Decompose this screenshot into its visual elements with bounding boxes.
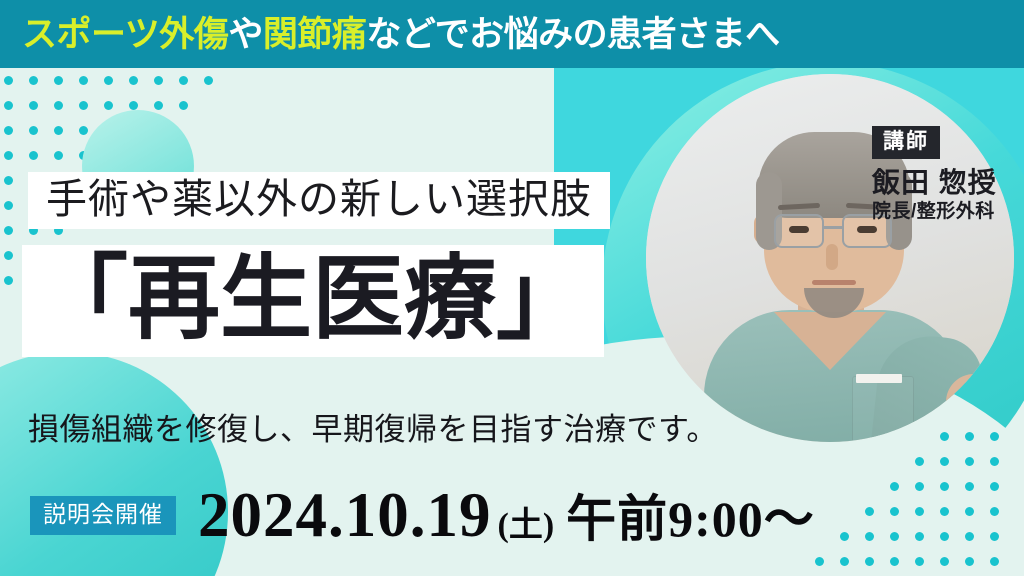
decor-dot	[4, 126, 13, 135]
decor-dot	[29, 126, 38, 135]
decor-dot	[4, 276, 13, 285]
decor-dot	[4, 201, 13, 210]
decor-dot	[915, 507, 924, 516]
instructor-badge: 講師	[872, 126, 940, 159]
subheadline-text: 手術や薬以外の新しい選択肢	[46, 176, 592, 222]
decor-dot	[815, 557, 824, 566]
decor-dot	[4, 101, 13, 110]
decor-dot	[29, 151, 38, 160]
event-date-number: 2024.10.19	[198, 484, 492, 547]
decor-dot	[104, 76, 113, 85]
decor-dot	[915, 482, 924, 491]
decor-dot	[990, 507, 999, 516]
decor-dot	[890, 532, 899, 541]
decor-dot	[104, 101, 113, 110]
decor-dot	[940, 457, 949, 466]
ribbon-segment: などでお悩みの患者さまへ	[366, 15, 779, 54]
headline-box: 「再生医療」	[22, 245, 604, 357]
instructor-name: 飯田 惣授	[872, 168, 997, 199]
ribbon-segment: 関節痛	[263, 15, 367, 54]
decor-dot	[29, 76, 38, 85]
instructor-block: 講師 飯田 惣授 院長/整形外科	[872, 126, 997, 224]
decor-dot	[965, 507, 974, 516]
decor-dot	[840, 557, 849, 566]
header-ribbon: スポーツ外傷や関節痛などでお悩みの患者さまへ	[0, 0, 1024, 68]
decor-dot	[79, 101, 88, 110]
decor-dot	[4, 151, 13, 160]
decor-dot	[179, 101, 188, 110]
decor-dot	[79, 76, 88, 85]
decor-dot	[940, 532, 949, 541]
decor-dot	[990, 532, 999, 541]
decor-dot	[865, 557, 874, 566]
event-date-main: 2024.10.19 (土) 午前9:00〜	[198, 484, 815, 547]
decor-dot	[4, 176, 13, 185]
subheadline-box: 手術や薬以外の新しい選択肢	[28, 172, 610, 229]
decor-dot	[4, 76, 13, 85]
decor-dot	[54, 101, 63, 110]
decor-dot	[890, 557, 899, 566]
decor-dot	[965, 532, 974, 541]
event-badge: 説明会開催	[30, 496, 176, 535]
decor-dot	[965, 557, 974, 566]
decor-dot	[179, 76, 188, 85]
decor-dot	[890, 507, 899, 516]
instructor-role: 院長/整形外科	[872, 201, 997, 224]
decor-dot	[865, 532, 874, 541]
decor-dot	[990, 457, 999, 466]
decor-dot	[79, 126, 88, 135]
decor-dot	[54, 151, 63, 160]
decor-dot	[965, 482, 974, 491]
decor-dot	[990, 482, 999, 491]
decor-dot	[915, 557, 924, 566]
lead-text: 損傷組織を修復し、早期復帰を目指す治療です。	[28, 404, 718, 449]
decor-dot	[154, 76, 163, 85]
promotional-banner: スポーツ外傷や関節痛などでお悩みの患者さまへ 手術や薬以外の新しい選択肢 「再生…	[0, 0, 1024, 576]
decor-dot	[965, 457, 974, 466]
decor-dot	[915, 457, 924, 466]
decor-dot	[4, 226, 13, 235]
event-time: 午前9:00〜	[566, 494, 815, 544]
event-date-row: 説明会開催 2024.10.19 (土) 午前9:00〜	[30, 484, 815, 547]
decor-dot	[940, 557, 949, 566]
decor-dot	[990, 557, 999, 566]
header-ribbon-text: スポーツ外傷や関節痛などでお悩みの患者さまへ	[22, 17, 780, 52]
decor-dot	[54, 76, 63, 85]
decor-dot	[204, 76, 213, 85]
decor-dot	[54, 126, 63, 135]
event-date-weekday: (土)	[498, 509, 555, 543]
decor-dot	[940, 507, 949, 516]
ribbon-segment: スポーツ外傷	[22, 15, 228, 54]
headline-text: 「再生医療」	[36, 248, 588, 350]
decor-dot	[890, 482, 899, 491]
decor-dot	[4, 251, 13, 260]
decor-dot	[915, 532, 924, 541]
decor-dot	[865, 507, 874, 516]
decor-dot	[129, 76, 138, 85]
decor-dot	[840, 532, 849, 541]
decor-dot	[940, 482, 949, 491]
decor-dot	[129, 101, 138, 110]
decor-dot	[29, 101, 38, 110]
ribbon-segment: や	[228, 15, 263, 54]
decor-dot	[154, 101, 163, 110]
